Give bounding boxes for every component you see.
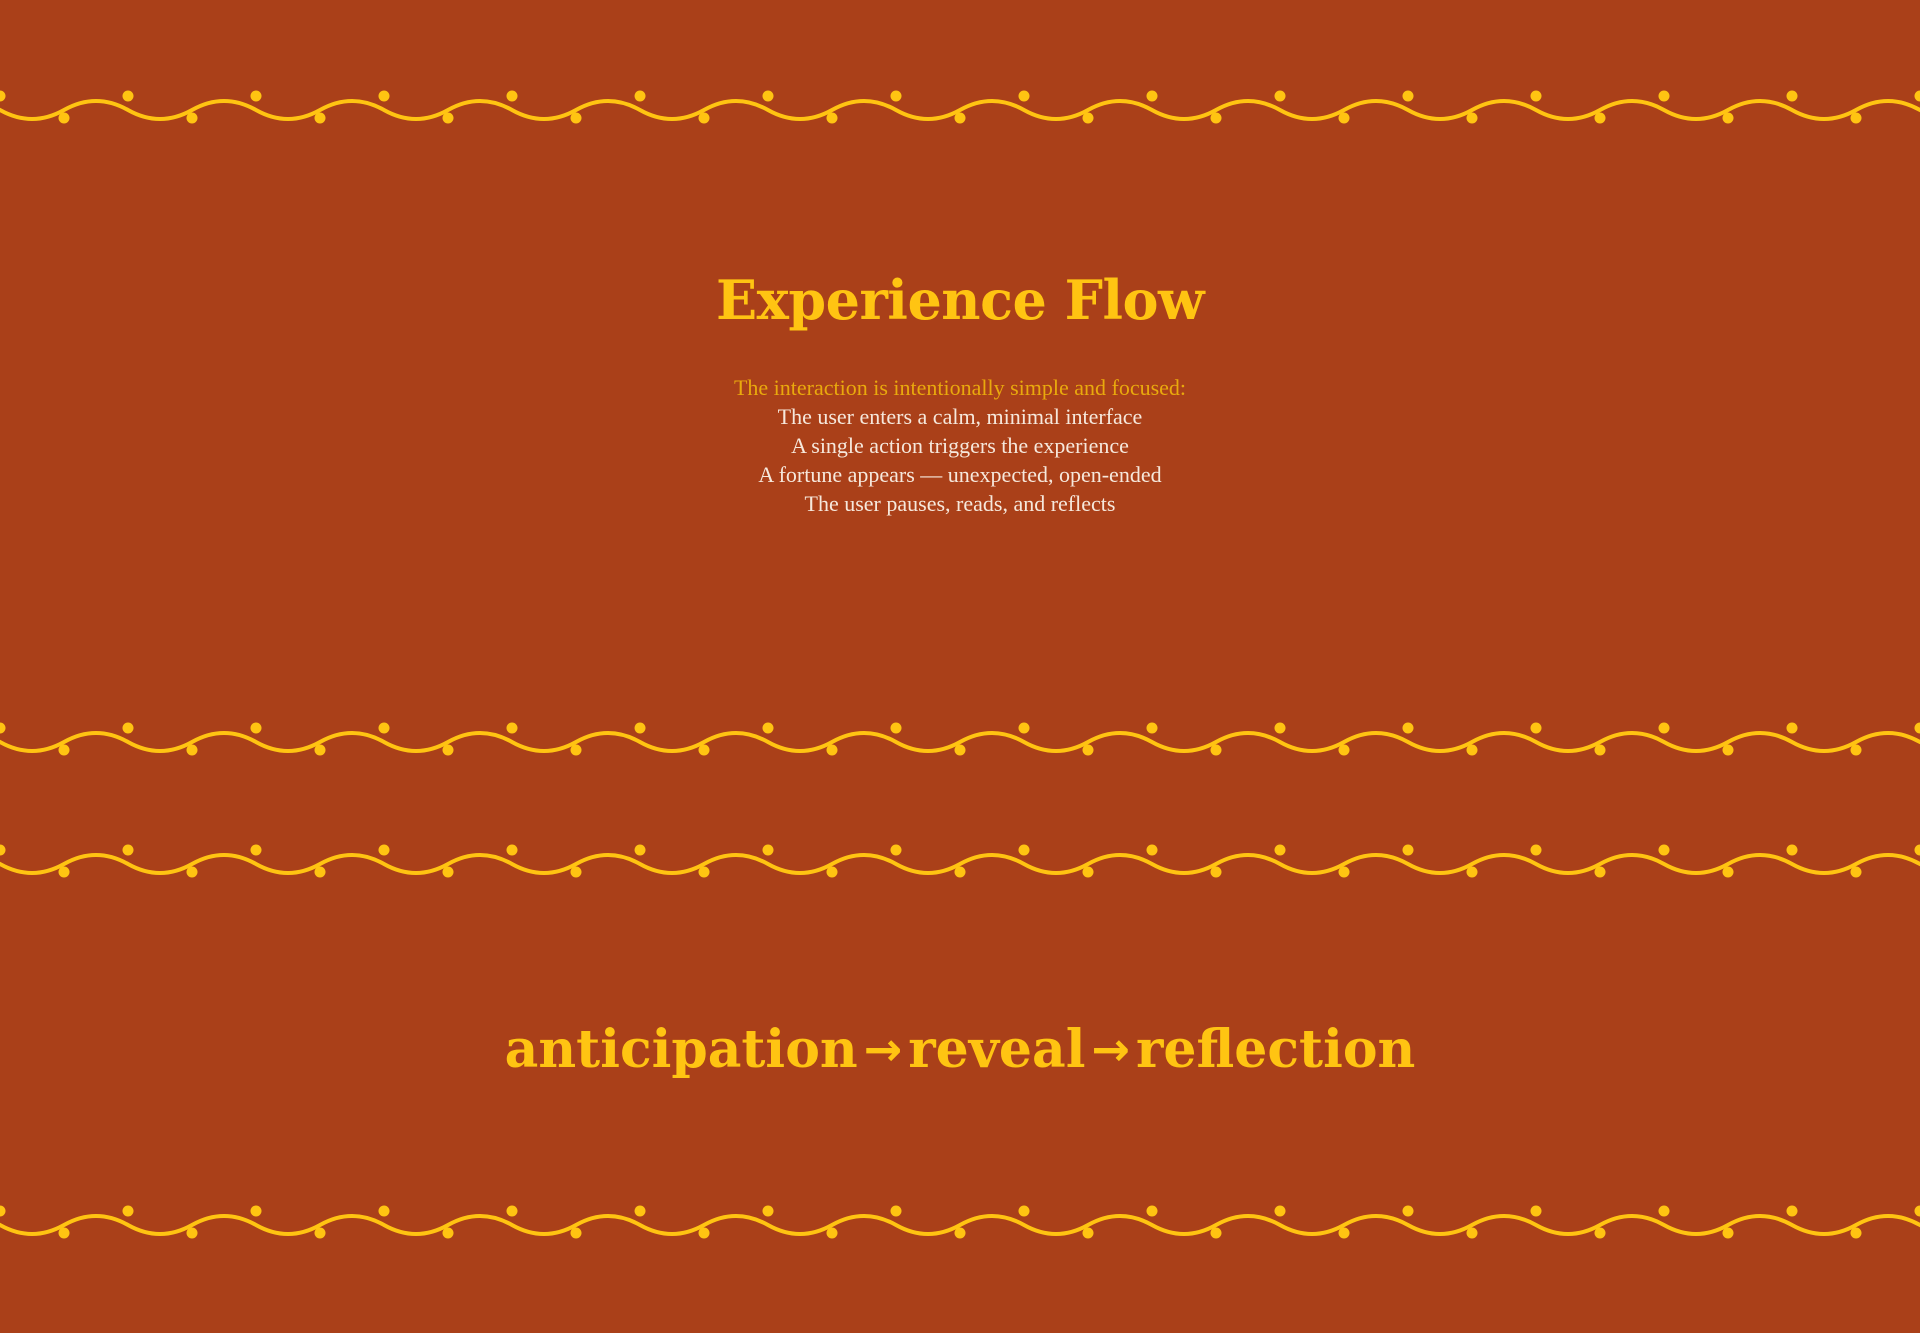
arrow-right-icon-2: → <box>1085 1022 1136 1076</box>
slide-canvas: Experience Flow The interaction is inten… <box>0 0 1920 1333</box>
page-title: Experience Flow <box>0 268 1920 332</box>
wave-divider-middle-lower <box>0 836 1920 892</box>
wave-line-icon <box>0 101 1920 119</box>
flow-step-1: The user enters a calm, minimal interfac… <box>0 402 1920 431</box>
experience-flow-copy: The interaction is intentionally simple … <box>0 373 1920 518</box>
wave-dots-icon <box>0 723 1920 756</box>
wave-line-icon <box>0 1216 1920 1234</box>
tagline-stage-reflection: reflection <box>1136 1019 1415 1080</box>
wave-dots-icon <box>0 1206 1920 1239</box>
flow-step-4: The user pauses, reads, and reflects <box>0 489 1920 518</box>
wave-line-icon <box>0 733 1920 751</box>
wave-divider-bottom <box>0 1197 1920 1253</box>
arrow-right-icon-1: → <box>858 1022 909 1076</box>
wave-divider-middle-upper <box>0 714 1920 770</box>
flow-lead-line: The interaction is intentionally simple … <box>0 373 1920 402</box>
experience-flow-tagline: anticipation→reveal→reflection <box>0 1016 1920 1083</box>
tagline-stage-anticipation: anticipation <box>505 1019 858 1080</box>
wave-dots-icon <box>0 845 1920 878</box>
flow-step-2: A single action triggers the experience <box>0 431 1920 460</box>
wave-line-icon <box>0 855 1920 873</box>
wave-dots-icon <box>0 91 1920 124</box>
tagline-stage-reveal: reveal <box>908 1019 1085 1080</box>
flow-step-3: A fortune appears — unexpected, open-end… <box>0 460 1920 489</box>
wave-divider-top <box>0 82 1920 138</box>
